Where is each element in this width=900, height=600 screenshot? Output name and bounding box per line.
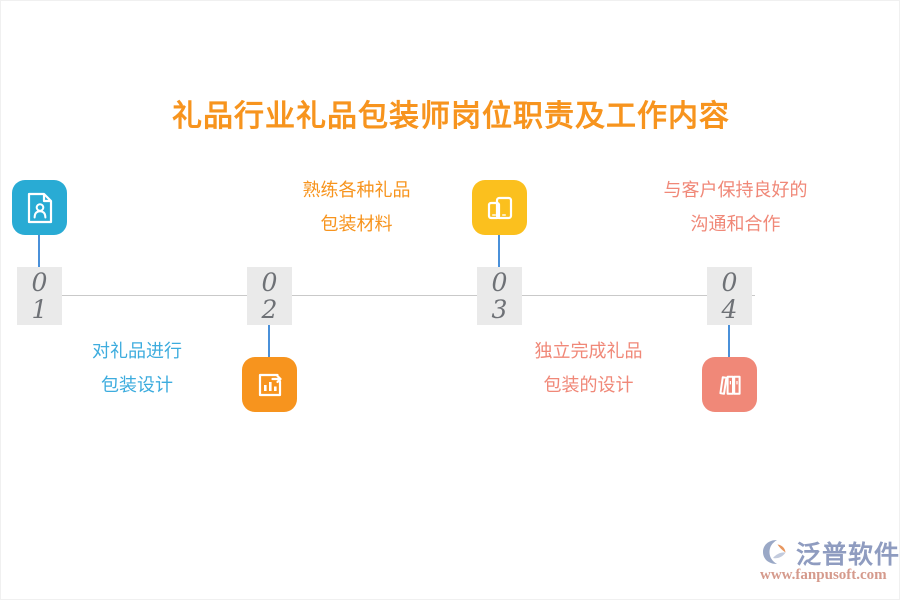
step-2-icon-tile[interactable]	[242, 357, 297, 412]
step-1-icon-tile[interactable]	[12, 180, 67, 235]
step-4-number-bottom: 4	[722, 296, 738, 323]
step-1-number-box: 0 1	[17, 267, 62, 325]
step-2-label-line-1: 熟练各种礼品	[259, 173, 454, 207]
step-4-number-top: 0	[722, 269, 738, 296]
step-4-label: 与客户保持良好的 沟通和合作	[629, 173, 842, 241]
bar-chart-arrow-icon	[254, 369, 286, 401]
step-3-icon-tile[interactable]	[472, 180, 527, 235]
watermark-brand: 泛普软件	[796, 535, 900, 571]
books-icon	[715, 370, 745, 400]
step-1-number-top: 0	[32, 269, 48, 296]
document-person-icon	[25, 192, 55, 224]
step-3-number-bottom: 3	[492, 296, 508, 323]
step-4-label-line-2: 沟通和合作	[629, 207, 842, 241]
step-2-number-top: 0	[262, 269, 278, 296]
watermark: 泛普软件 www.fanpusoft.com	[758, 535, 893, 590]
step-3-number-box: 0 3	[477, 267, 522, 325]
step-1-label-line-1: 对礼品进行	[42, 334, 232, 368]
step-3-label-line-2: 包装的设计	[491, 368, 686, 402]
step-2-number-box: 0 2	[247, 267, 292, 325]
step-1-label-line-2: 包装设计	[42, 368, 232, 402]
step-4-connector	[728, 325, 730, 357]
step-3-number-top: 0	[492, 269, 508, 296]
step-3-connector	[498, 235, 500, 267]
devices-icon	[484, 192, 516, 224]
step-1-number-bottom: 1	[32, 296, 48, 323]
step-2-label: 熟练各种礼品 包装材料	[259, 173, 454, 241]
step-3-label: 独立完成礼品 包装的设计	[491, 334, 686, 402]
step-2-label-line-2: 包装材料	[259, 207, 454, 241]
step-1-connector	[38, 235, 40, 267]
timeline-axis	[17, 295, 755, 296]
watermark-url: www.fanpusoft.com	[760, 567, 887, 584]
step-4-icon-tile[interactable]	[702, 357, 757, 412]
step-1-label: 对礼品进行 包装设计	[42, 334, 232, 402]
step-4-label-line-1: 与客户保持良好的	[629, 173, 842, 207]
step-4-number-box: 0 4	[707, 267, 752, 325]
infographic-canvas: 礼品行业礼品包装师岗位职责及工作内容 0 1 对礼品进行 包装设计 熟练各种礼品…	[0, 0, 900, 600]
step-2-number-bottom: 2	[262, 296, 278, 323]
step-2-connector	[268, 325, 270, 357]
step-3-label-line-1: 独立完成礼品	[491, 334, 686, 368]
page-title: 礼品行业礼品包装师岗位职责及工作内容	[1, 91, 900, 135]
